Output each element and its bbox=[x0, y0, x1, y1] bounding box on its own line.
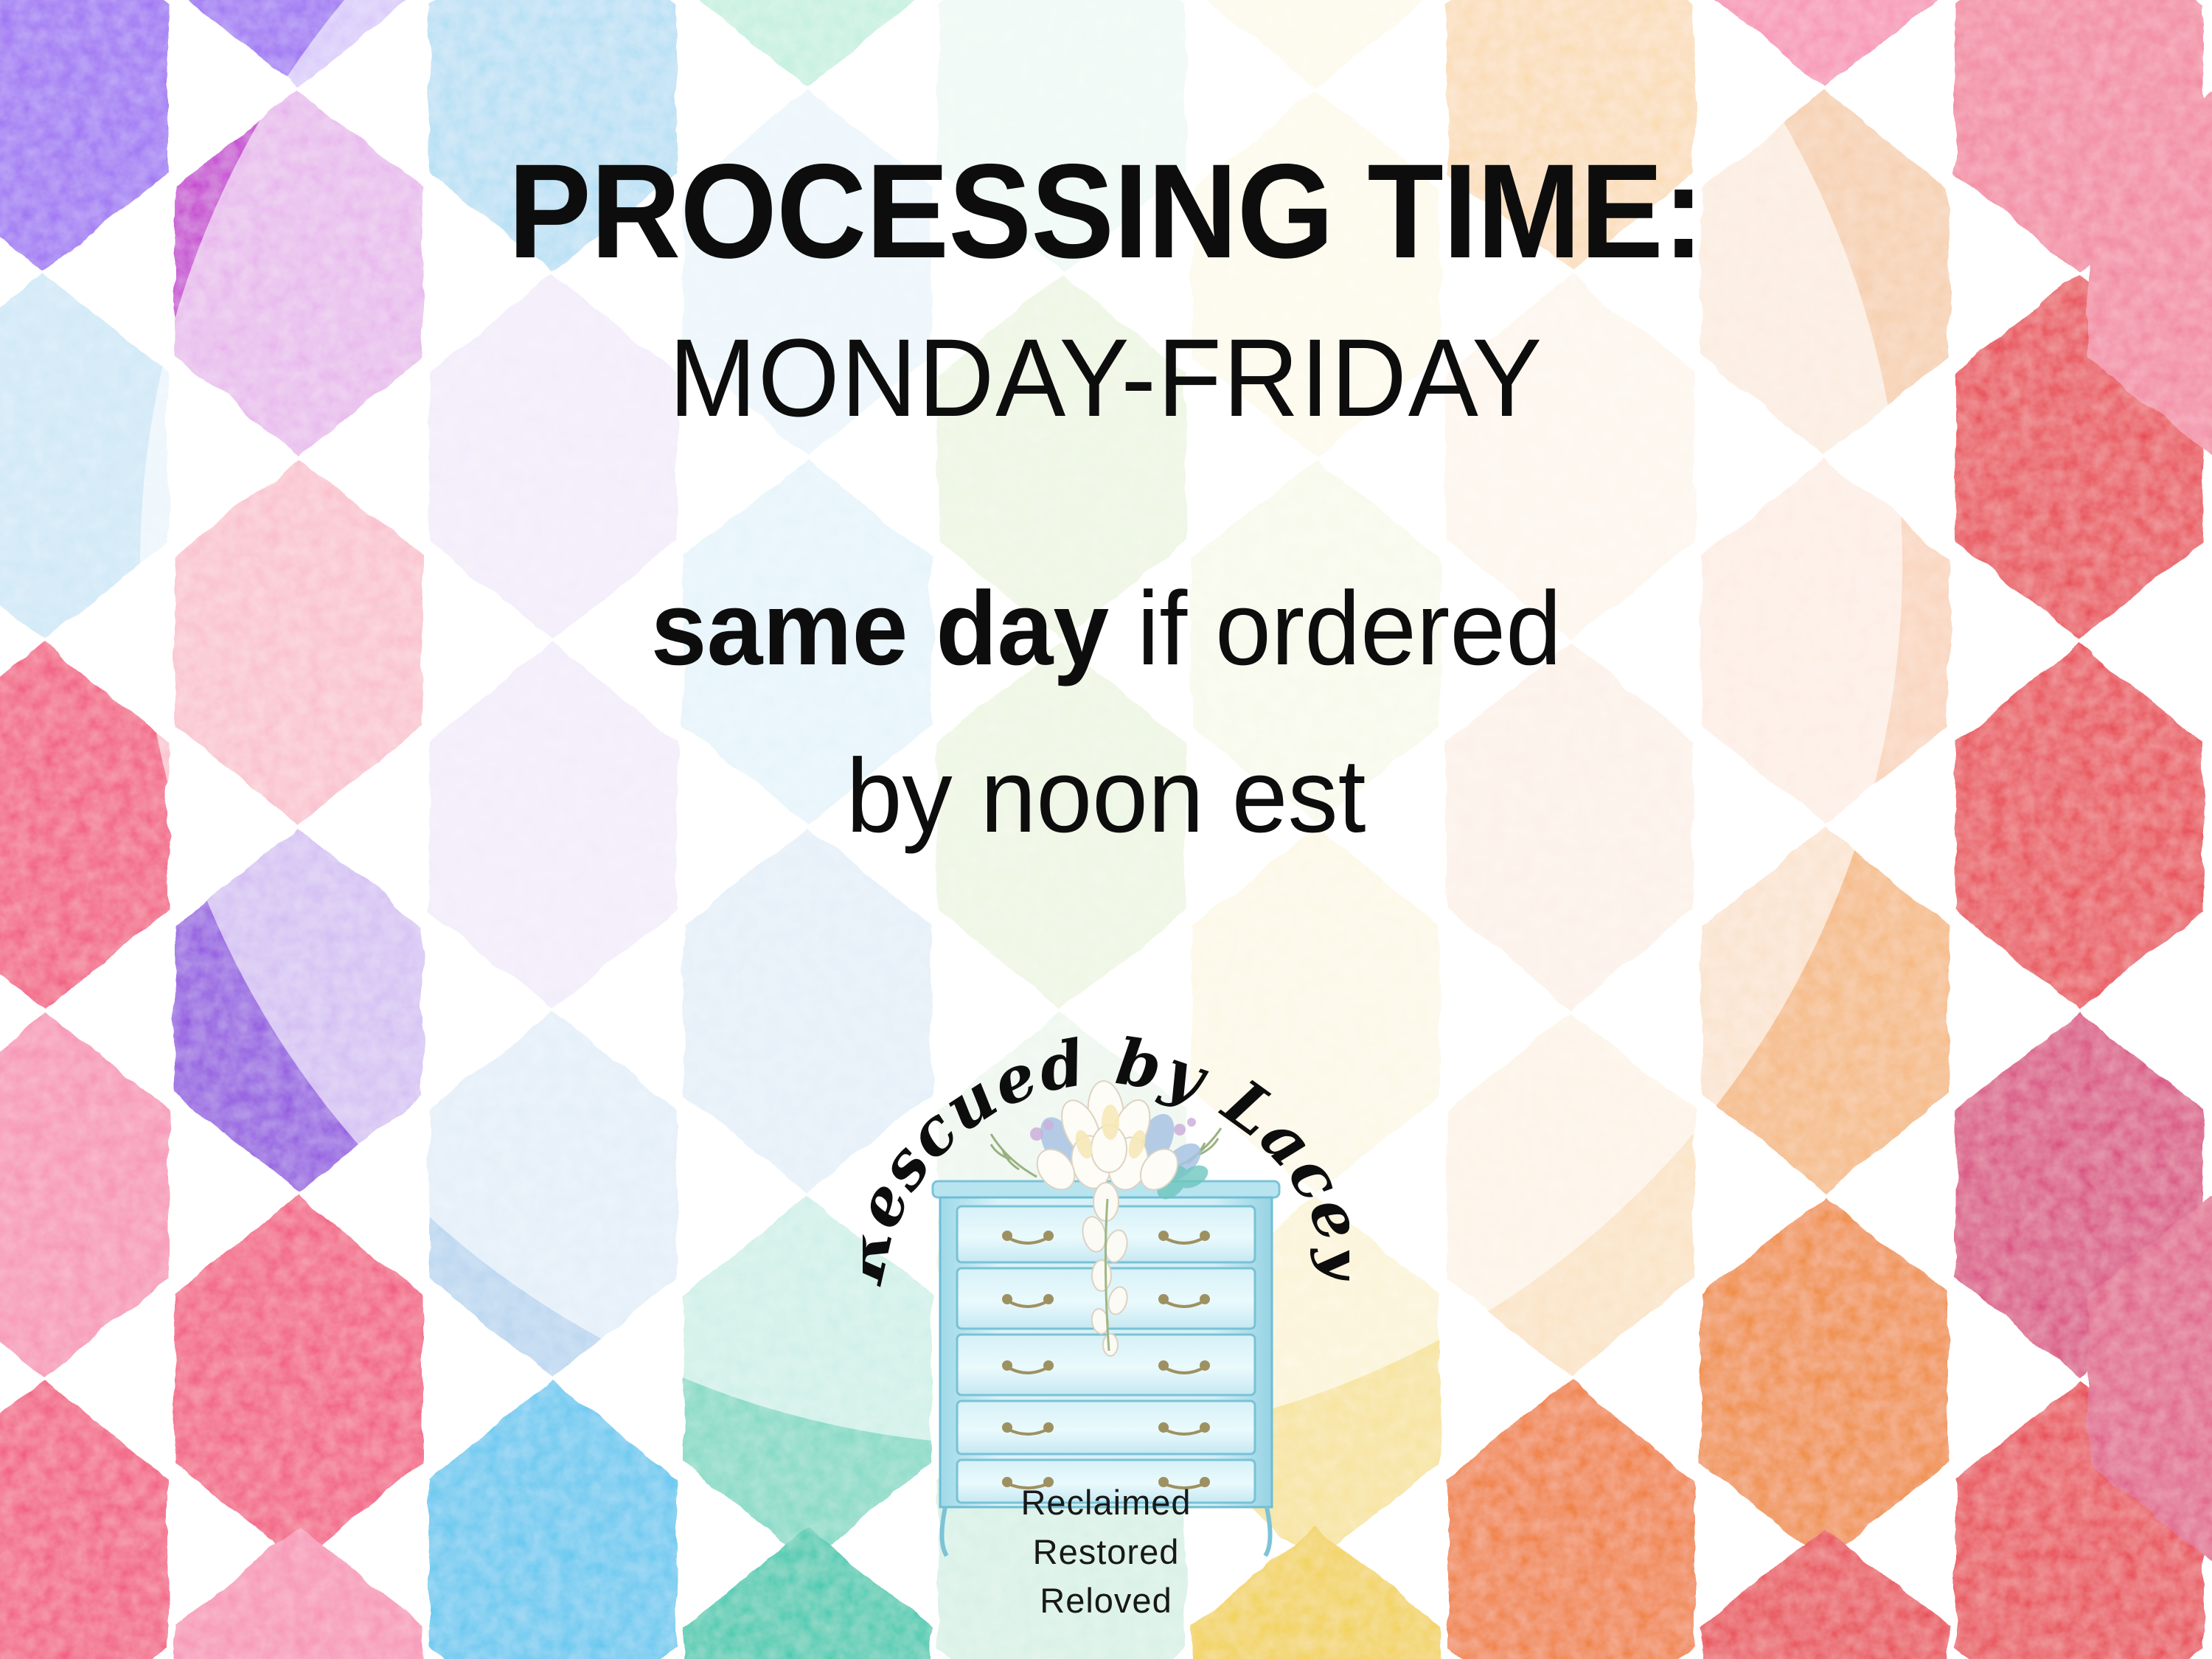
subtitle-days: MONDAY-FRIDAY bbox=[669, 322, 1543, 433]
body-line-by-noon-est: by noon est bbox=[846, 744, 1366, 849]
poster-canvas: PROCESSING TIME: MONDAY-FRIDAY same day … bbox=[0, 0, 2212, 1659]
brand-tagline: Reclaimed Restored Reloved bbox=[1020, 1478, 1191, 1626]
tagline-line-3: Reloved bbox=[1020, 1576, 1191, 1626]
page-title-processing-time: PROCESSING TIME: bbox=[508, 144, 1703, 278]
tagline-line-2: Restored bbox=[1020, 1528, 1191, 1577]
body-line-rest: if ordered bbox=[1109, 570, 1562, 687]
body-line-same-day-if-ordered: same day if ordered bbox=[650, 577, 1561, 681]
tagline-line-1: Reclaimed bbox=[1020, 1478, 1191, 1528]
emphasis-same-day: same day bbox=[650, 570, 1108, 687]
